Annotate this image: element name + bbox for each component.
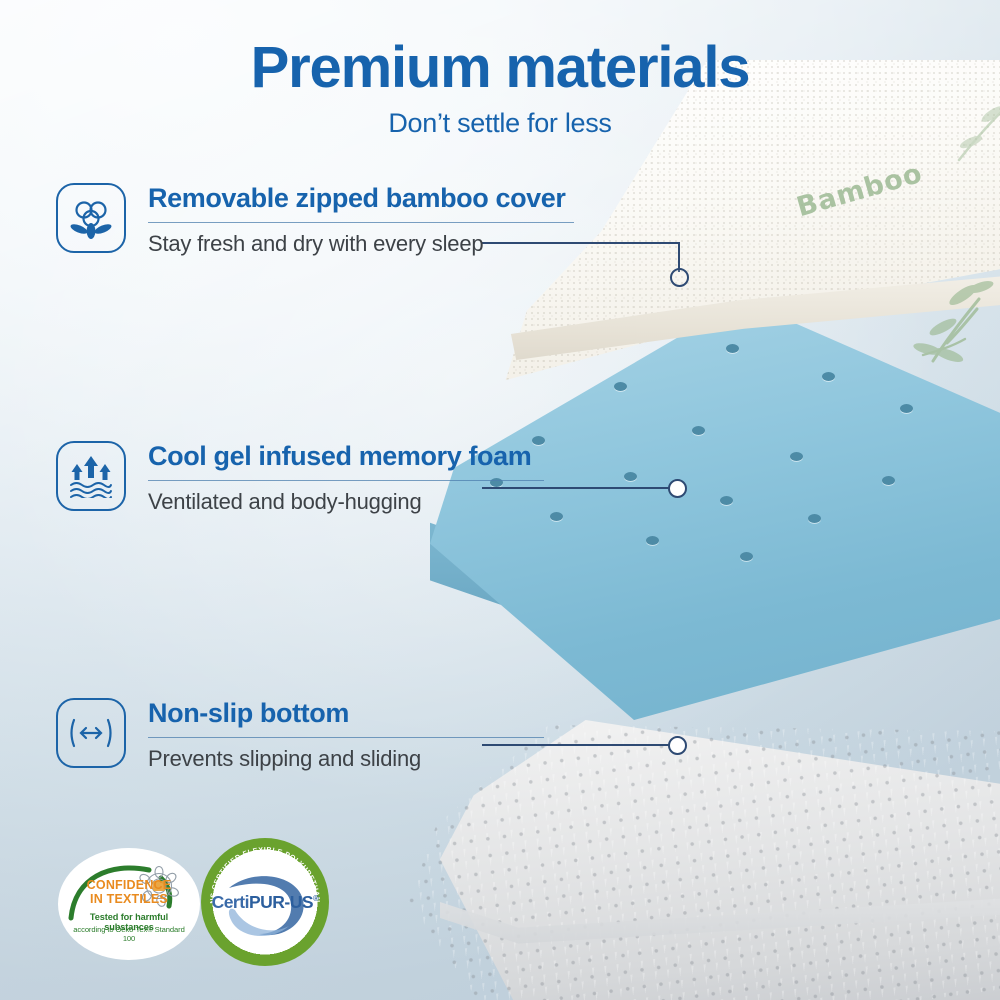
- feature-divider: [148, 480, 544, 482]
- cotton-bamboo-plant-icon: [56, 183, 126, 253]
- feature-divider: [148, 222, 574, 224]
- feature-text-group: Cool gel infused memory foam Ventilated …: [148, 441, 544, 515]
- feature-heading: Cool gel infused memory foam: [148, 441, 544, 473]
- oeko-headline: CONFIDENCE IN TEXTILES: [75, 878, 183, 906]
- feature-heading: Removable zipped bamboo cover: [148, 183, 574, 215]
- feature-non-slip[interactable]: Non-slip bottom Prevents slipping and sl…: [56, 698, 544, 772]
- horizontal-double-arrow-icon: [56, 698, 126, 768]
- certipur-wordmark: CertiPUR-US®: [201, 892, 329, 913]
- feature-divider: [148, 737, 544, 739]
- feature-removable-cover[interactable]: Removable zipped bamboo cover Stay fresh…: [56, 183, 574, 257]
- oeko-tex-badge[interactable]: CONFIDENCE IN TEXTILES Tested for harmfu…: [58, 848, 200, 960]
- page-title: Premium materials: [0, 38, 1000, 98]
- infographic-canvas: Bamboo: [0, 0, 1000, 1000]
- feature-subtext: Ventilated and body-hugging: [148, 489, 544, 515]
- feature-subtext: Prevents slipping and sliding: [148, 746, 544, 772]
- feature-text-group: Non-slip bottom Prevents slipping and sl…: [148, 698, 544, 772]
- header-block: Premium materials Don’t settle for less: [0, 38, 1000, 139]
- airflow-arrows-waves-icon: [56, 441, 126, 511]
- page-subtitle: Don’t settle for less: [0, 108, 1000, 139]
- leader-dot-cover: [670, 268, 689, 287]
- leader-dot-gel: [668, 479, 687, 498]
- oeko-subline-2: according to Oeko-Tex® Standard 100: [67, 925, 191, 943]
- certipur-us-badge[interactable]: CONTAINS CERTIFIED FLEXIBLE POLYURETHANE…: [201, 838, 329, 966]
- leader-dot-nonslip: [668, 736, 687, 755]
- feature-heading: Non-slip bottom: [148, 698, 544, 730]
- feature-subtext: Stay fresh and dry with every sleep: [148, 231, 574, 257]
- feature-gel-foam[interactable]: Cool gel infused memory foam Ventilated …: [56, 441, 544, 515]
- bamboo-leaf-graphic: [903, 265, 1000, 375]
- feature-text-group: Removable zipped bamboo cover Stay fresh…: [148, 183, 574, 257]
